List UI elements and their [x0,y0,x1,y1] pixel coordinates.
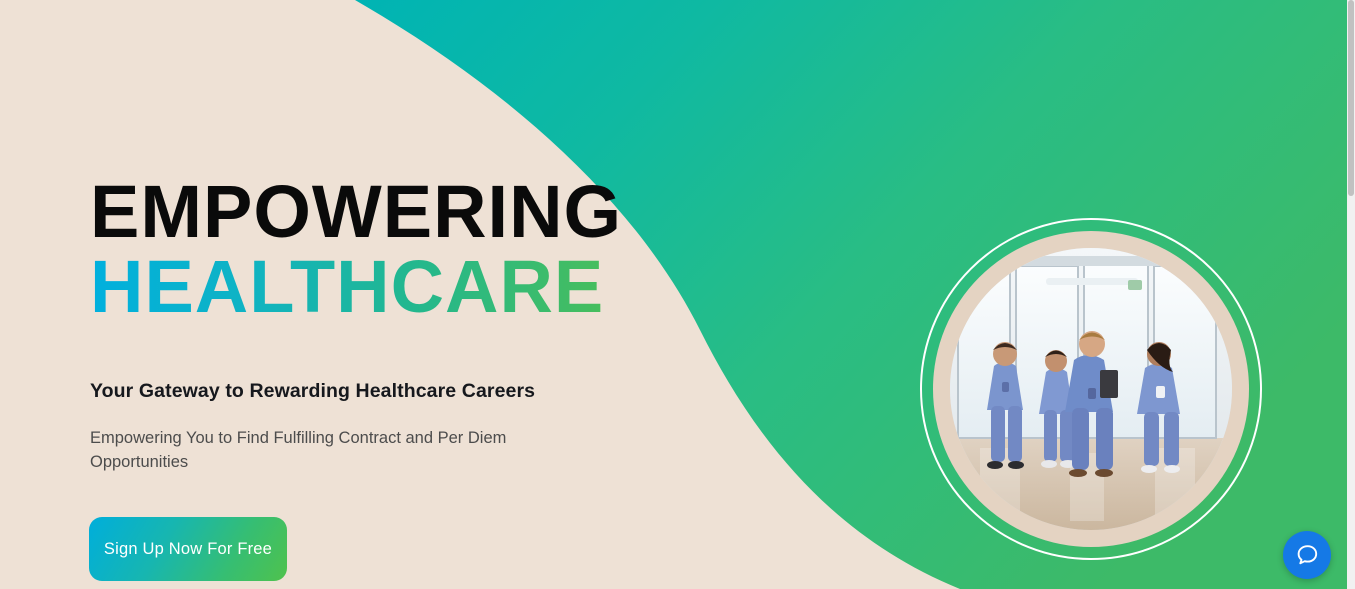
photo-disc [950,248,1232,530]
scrollbar-track[interactable] [1347,0,1355,589]
hero-body-text: Empowering You to Find Fulfilling Contra… [90,426,570,475]
hero-section: EMPOWERING HEALTHCARE Your Gateway to Re… [0,0,1355,589]
sign-up-button[interactable]: Sign Up Now For Free [89,517,287,581]
headline-line-1: EMPOWERING [90,176,790,249]
chat-widget-button[interactable] [1283,531,1331,579]
hospital-corridor-illustration [950,248,1232,530]
headline-line-2: HEALTHCARE [90,249,790,324]
chat-bubble-icon [1294,542,1320,568]
hero-photo [920,218,1262,560]
hero-copy: EMPOWERING HEALTHCARE Your Gateway to Re… [90,176,790,475]
hero-subheading: Your Gateway to Rewarding Healthcare Car… [90,380,790,403]
scrollbar-thumb[interactable] [1348,0,1354,196]
